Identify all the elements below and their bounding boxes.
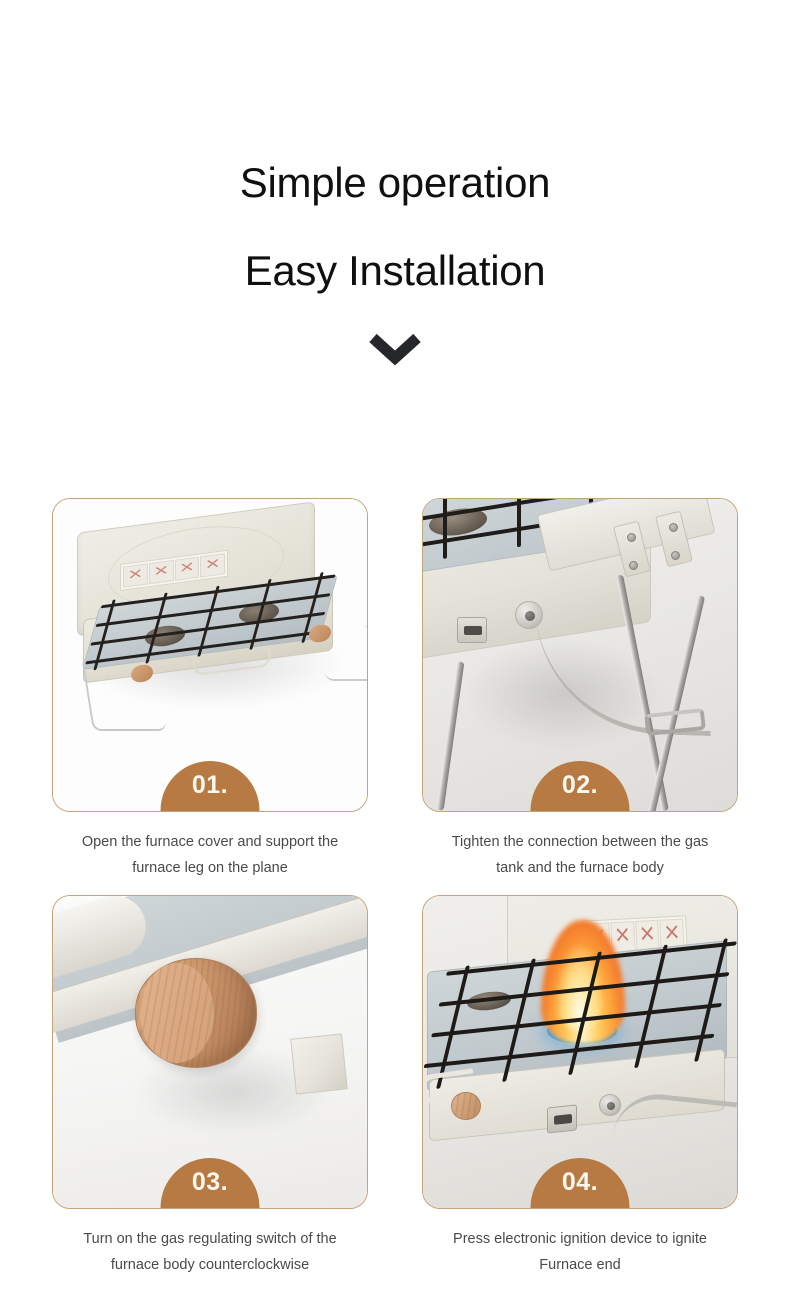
step-image-frame-04: 04. (422, 895, 738, 1209)
step-number-01: 01. (192, 773, 228, 798)
step-number-03: 03. (192, 1170, 228, 1195)
step-caption-04-line-1: Press electronic ignition device to igni… (426, 1226, 734, 1252)
step-image-frame-02: 02. (422, 498, 738, 812)
step-caption-01: Open the furnace cover and support the f… (52, 829, 368, 881)
step-card-04: 04. Press electronic ignition device to … (422, 895, 738, 1278)
step-caption-01-line-2: furnace leg on the plane (56, 855, 364, 881)
step-card-02: 02. Tighten the connection between the g… (422, 498, 738, 881)
step-caption-04-line-2: Furnace end (426, 1252, 734, 1278)
step-caption-01-line-1: Open the furnace cover and support the (56, 829, 364, 855)
page-title-line-2: Easy Installation (0, 240, 790, 302)
step-image-frame-01: 01. (52, 498, 368, 812)
step-caption-03-line-1: Turn on the gas regulating switch of the (56, 1226, 364, 1252)
installation-steps-grid: 01. Open the furnace cover and support t… (52, 498, 738, 1278)
step-image-frame-03: 03. (52, 895, 368, 1209)
step-caption-03-line-2: furnace body counterclockwise (56, 1252, 364, 1278)
product-instructions-page: Simple operation Easy Installation (0, 0, 790, 1305)
step-number-04: 04. (562, 1170, 598, 1195)
step-caption-03: Turn on the gas regulating switch of the… (52, 1226, 368, 1278)
step-caption-02: Tighten the connection between the gas t… (422, 829, 738, 881)
step-number-02: 02. (562, 773, 598, 798)
step-caption-02-line-1: Tighten the connection between the gas (426, 829, 734, 855)
step-caption-02-line-2: tank and the furnace body (426, 855, 734, 881)
step-card-03: 03. Turn on the gas regulating switch of… (52, 895, 368, 1278)
page-header: Simple operation Easy Installation (0, 0, 790, 366)
step-card-01: 01. Open the furnace cover and support t… (52, 498, 368, 881)
page-title-line-1: Simple operation (0, 152, 790, 214)
step-caption-04: Press electronic ignition device to igni… (422, 1226, 738, 1278)
chevron-down-icon (0, 332, 790, 366)
